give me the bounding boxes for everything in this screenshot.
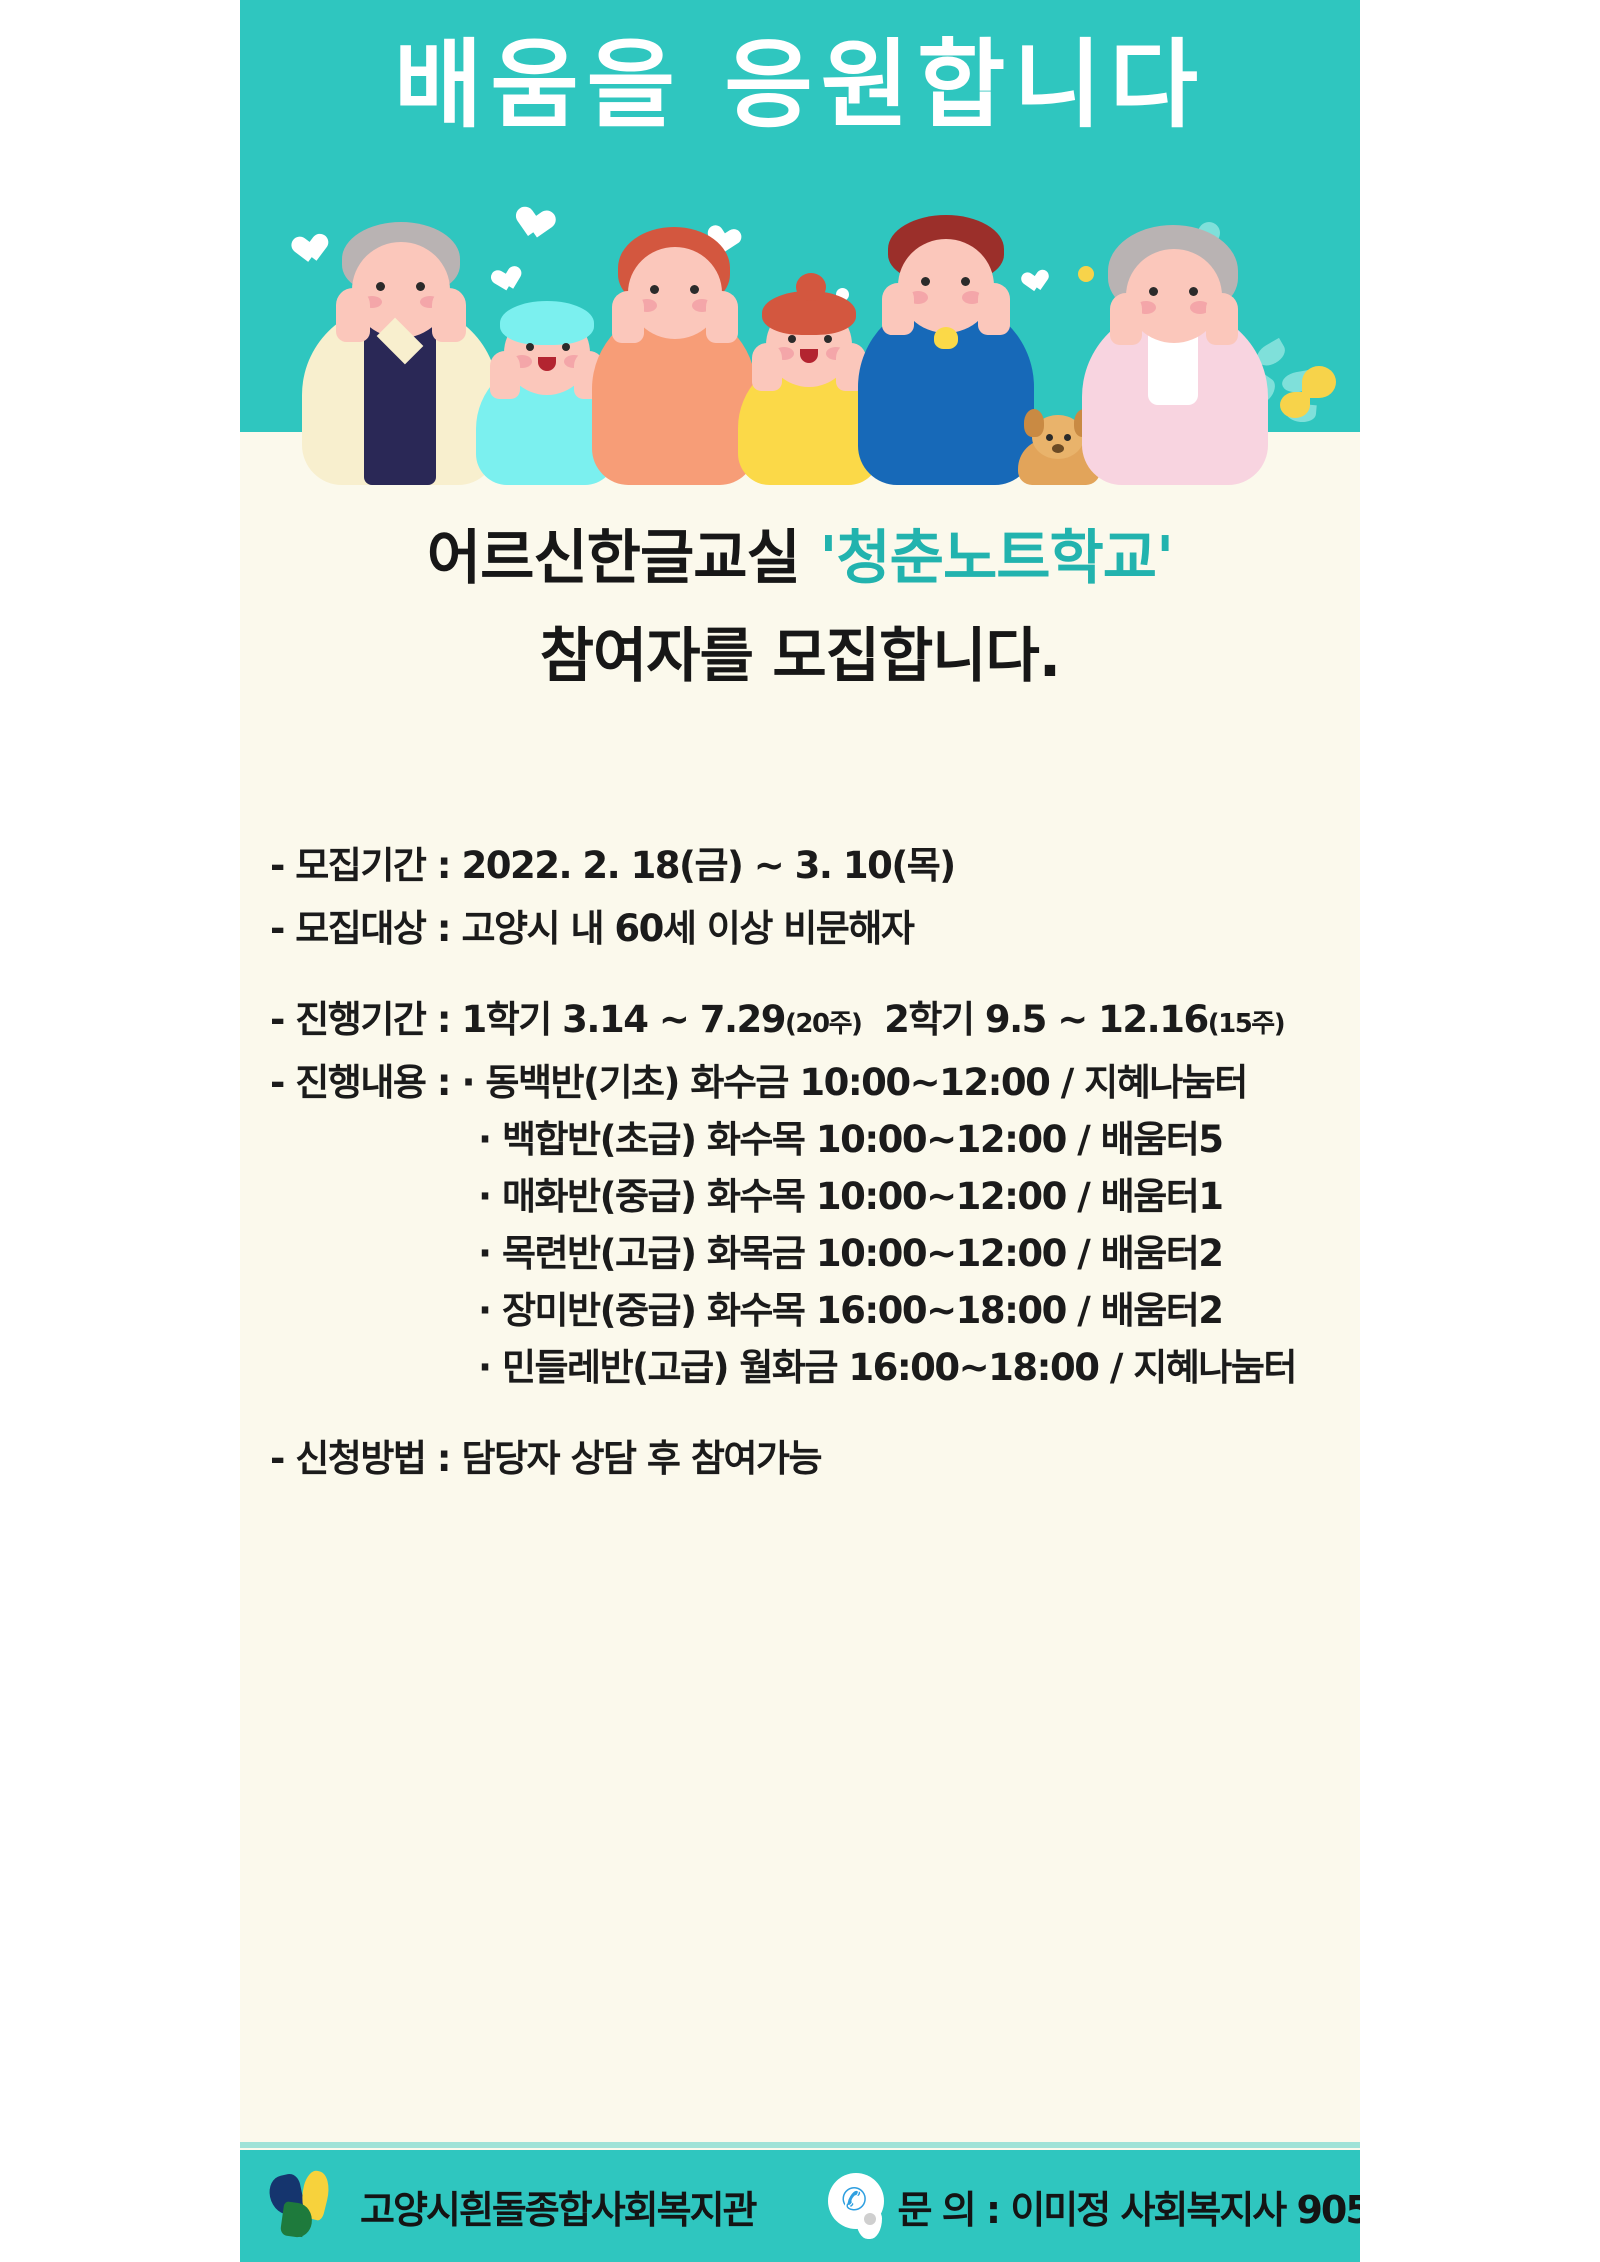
- organization-logo-icon: [266, 2169, 344, 2243]
- class-row: · 장미반(중급) 화수목 16:00~18:00 / 배움터2: [270, 1292, 1340, 1329]
- person-mother: [592, 227, 756, 485]
- term-semester-1-weeks: (20주): [785, 1009, 861, 1039]
- class-bullet: ·: [478, 1232, 491, 1275]
- class-text: 동백반(기초) 화수금 10:00~12:00 / 지혜나눔터: [485, 1061, 1246, 1104]
- term-semester-2: 2학기 9.5 ~ 12.16: [884, 998, 1208, 1041]
- footer-bar: 고양시흰돌종합사회복지관 ✆ 문 의 : 이미정 사회복지사 905-3400~…: [240, 2150, 1360, 2262]
- class-row: · 목련반(고급) 화목금 10:00~12:00 / 배움터2: [270, 1235, 1340, 1272]
- headline-line-2: 참여자를 모집합니다.: [240, 618, 1360, 694]
- target-value: 고양시 내 60세 이상 비문해자: [461, 907, 913, 950]
- content-label: - 진행내용 :: [270, 1061, 461, 1104]
- class-bullet: ·: [478, 1175, 491, 1218]
- person-grandfather: [302, 220, 498, 485]
- person-father: [858, 219, 1034, 485]
- poster-root: 배움을 응원합니다: [240, 0, 1360, 2262]
- recruit-period-value: 2022. 2. 18(금) ~ 3. 10(목): [461, 844, 954, 887]
- class-bullet: ·: [478, 1118, 491, 1161]
- headline-program-name: '청춘노트학교': [819, 523, 1173, 592]
- target-label: - 모집대상 :: [270, 907, 461, 950]
- bowtie-icon: [934, 327, 958, 349]
- class-bullet: ·: [478, 1289, 491, 1332]
- detail-content-first: - 진행내용 : · 동백반(기초) 화수금 10:00~12:00 / 지혜나…: [270, 1064, 1340, 1101]
- class-text: 목련반(고급) 화목금 10:00~12:00 / 배움터2: [502, 1232, 1223, 1275]
- detail-target: - 모집대상 : 고양시 내 60세 이상 비문해자: [270, 910, 1340, 947]
- headline-block: 어르신한글교실 '청춘노트학교' 참여자를 모집합니다.: [240, 520, 1360, 693]
- detail-term: - 진행기간 : 1학기 3.14 ~ 7.29(20주) 2학기 9.5 ~ …: [270, 1001, 1340, 1038]
- headline-prefix: 어르신한글교실: [427, 523, 820, 592]
- footer-divider: [240, 2142, 1360, 2148]
- banner-title: 배움을 응원합니다: [240, 30, 1360, 140]
- class-text: 장미반(중급) 화수목 16:00~18:00 / 배움터2: [502, 1289, 1223, 1332]
- person-grandmother: [1082, 227, 1268, 485]
- phone-glyph: ✆: [839, 2183, 869, 2217]
- organization-name: 고양시흰돌종합사회복지관: [360, 2179, 756, 2234]
- class-row: · 매화반(중급) 화수목 10:00~12:00 / 배움터1: [270, 1178, 1340, 1215]
- class-row: · 백합반(초급) 화수목 10:00~12:00 / 배움터5: [270, 1121, 1340, 1158]
- apply-value: 담당자 상담 후 참여가능: [461, 1437, 821, 1480]
- apply-label: - 신청방법 :: [270, 1437, 461, 1480]
- contact-info: 문 의 : 이미정 사회복지사 905-3400~1: [898, 2179, 1360, 2234]
- details-block: - 모집기간 : 2022. 2. 18(금) ~ 3. 10(목) - 모집대…: [270, 785, 1340, 1477]
- detail-recruit-period: - 모집기간 : 2022. 2. 18(금) ~ 3. 10(목): [270, 847, 1340, 884]
- people-illustration: [240, 210, 1360, 485]
- class-text: 매화반(중급) 화수목 10:00~12:00 / 배움터1: [502, 1175, 1223, 1218]
- term-semester-1: 1학기 3.14 ~ 7.29: [461, 998, 785, 1041]
- class-bullet: ·: [461, 1061, 474, 1104]
- detail-apply-method: - 신청방법 : 담당자 상담 후 참여가능: [270, 1440, 1340, 1477]
- headline-line-1: 어르신한글교실 '청춘노트학교': [240, 520, 1360, 596]
- class-bullet: ·: [478, 1346, 491, 1389]
- recruit-period-label: - 모집기간 :: [270, 844, 461, 887]
- class-row: · 민들레반(고급) 월화금 16:00~18:00 / 지혜나눔터: [270, 1349, 1340, 1386]
- term-semester-2-weeks: (15주): [1208, 1009, 1284, 1039]
- term-label: - 진행기간 :: [270, 998, 461, 1041]
- contact-group: ✆ 문 의 : 이미정 사회복지사 905-3400~1: [828, 2173, 1360, 2239]
- phone-icon: ✆: [828, 2173, 894, 2239]
- class-text: 백합반(초급) 화수목 10:00~12:00 / 배움터5: [502, 1118, 1223, 1161]
- class-text: 민들레반(고급) 월화금 16:00~18:00 / 지혜나눔터: [502, 1346, 1296, 1389]
